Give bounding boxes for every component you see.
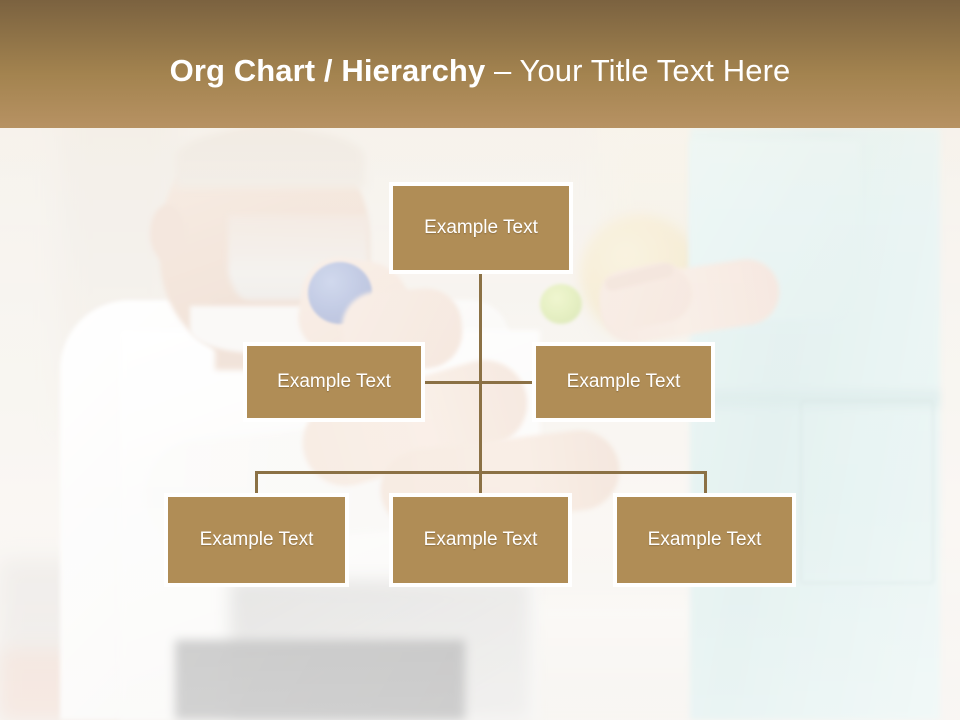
org-node-level3-right[interactable]: Example Text	[613, 493, 796, 587]
org-node-level2-left[interactable]: Example Text	[243, 342, 425, 422]
connector-drop-left	[255, 471, 258, 495]
org-node-level1[interactable]: Example Text	[389, 182, 573, 274]
org-chart: Example Text Example Text Example Text E…	[0, 0, 960, 720]
connector-trunk-vertical	[479, 274, 482, 473]
org-node-label: Example Text	[567, 371, 681, 393]
connector-drop-right	[704, 471, 707, 495]
org-node-label: Example Text	[424, 529, 538, 551]
org-node-level3-center[interactable]: Example Text	[389, 493, 572, 587]
connector-drop-center	[479, 471, 482, 495]
org-node-level3-left[interactable]: Example Text	[164, 493, 349, 587]
slide-canvas: Org Chart / Hierarchy – Your Title Text …	[0, 0, 960, 720]
org-node-level2-right[interactable]: Example Text	[532, 342, 715, 422]
connector-to-left-middle	[425, 381, 481, 384]
connector-to-right-middle	[479, 381, 534, 384]
org-node-label: Example Text	[648, 529, 762, 551]
org-node-label: Example Text	[424, 217, 538, 239]
org-node-label: Example Text	[200, 529, 314, 551]
org-node-label: Example Text	[277, 371, 391, 393]
